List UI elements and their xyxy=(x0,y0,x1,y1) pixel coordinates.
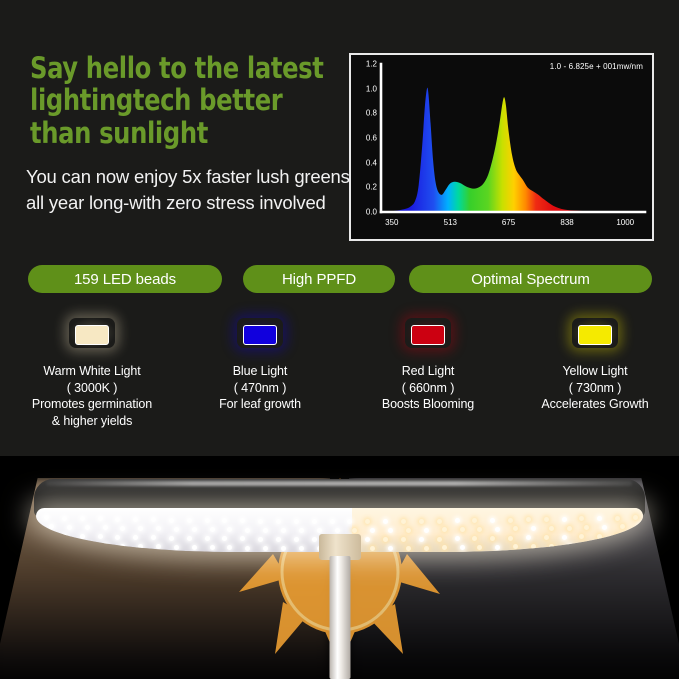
feature-pill-label: 159 LED beads xyxy=(74,271,176,288)
light-type-spec: ( 3000K ) xyxy=(8,380,176,397)
chart-y-tick: 0.2 xyxy=(355,183,377,192)
light-type-benefit-1: Accelerates Growth xyxy=(511,396,679,413)
led-bead xyxy=(401,537,406,542)
light-type-columns: Warm White Light ( 3000K ) Promotes germ… xyxy=(0,318,679,438)
chart-plot-area: 1.0 - 6.825e + 001mw/nm 0.00.20.40.60.81… xyxy=(351,55,652,239)
red-swatch-glow xyxy=(405,318,451,348)
led-bead xyxy=(227,527,232,532)
led-bead xyxy=(567,526,572,531)
lamp-pole xyxy=(329,556,350,679)
led-bead xyxy=(187,536,192,541)
led-bead xyxy=(67,543,72,548)
spectrum-curve xyxy=(351,55,652,239)
led-bead xyxy=(210,527,215,532)
led-bead xyxy=(330,519,335,524)
light-type-benefit-1: Boosts Blooming xyxy=(344,396,512,413)
light-type-red: Red Light ( 660nm ) Boosts Blooming xyxy=(344,318,512,413)
light-type-spec: ( 730nm ) xyxy=(511,380,679,397)
led-bead xyxy=(312,519,317,524)
led-bead xyxy=(80,516,85,521)
feature-pill-label: Optimal Spectrum xyxy=(471,271,589,288)
chart-y-tick: 0.0 xyxy=(355,208,377,217)
led-bead xyxy=(103,525,108,530)
led-bead xyxy=(174,527,179,532)
light-type-warm-white: Warm White Light ( 3000K ) Promotes germ… xyxy=(8,318,176,430)
led-bead xyxy=(205,536,210,541)
led-bead xyxy=(437,537,442,542)
led-bead xyxy=(210,545,215,550)
chart-y-tick: 0.6 xyxy=(355,134,377,143)
product-photo xyxy=(0,456,679,679)
led-bead xyxy=(67,525,72,530)
blue-swatch xyxy=(243,325,277,345)
led-bead xyxy=(424,546,429,551)
led-bead xyxy=(138,526,143,531)
led-bead xyxy=(383,537,388,542)
chart-x-tick: 675 xyxy=(502,218,515,227)
chart-x-tick: 350 xyxy=(385,218,398,227)
page-title: Say hello to the latest lightingtech bet… xyxy=(30,52,326,149)
led-bead xyxy=(245,546,250,551)
led-bead xyxy=(508,536,513,541)
led-bead xyxy=(133,535,138,540)
feature-pill-optimal-spectrum[interactable]: Optimal Spectrum xyxy=(409,265,652,293)
led-bead xyxy=(222,536,227,541)
led-bead xyxy=(562,517,567,522)
led-bead xyxy=(455,518,460,523)
light-type-name: Blue Light xyxy=(176,363,344,380)
led-bead xyxy=(263,528,268,533)
chart-annotation: 1.0 - 6.825e + 001mw/nm xyxy=(550,62,643,71)
led-bead xyxy=(103,543,108,548)
yellow-swatch xyxy=(578,325,612,345)
led-bead xyxy=(508,518,513,523)
led-bead xyxy=(245,528,250,533)
led-bead xyxy=(187,518,192,523)
light-type-yellow: Yellow Light ( 730nm ) Accelerates Growt… xyxy=(511,318,679,413)
light-type-text: Yellow Light ( 730nm ) Accelerates Growt… xyxy=(511,363,679,413)
light-type-blue: Blue Light ( 470nm ) For leaf growth xyxy=(176,318,344,413)
page-subtitle: You can now enjoy 5x faster lush greens … xyxy=(26,164,356,217)
led-bead xyxy=(615,534,620,539)
led-bead xyxy=(192,545,197,550)
led-bead xyxy=(544,535,549,540)
feature-pill-led-beads[interactable]: 159 LED beads xyxy=(28,265,222,293)
led-bead xyxy=(62,516,67,521)
led-bead xyxy=(169,536,174,541)
led-bead xyxy=(222,518,227,523)
led-bead xyxy=(562,535,567,540)
led-bead xyxy=(388,528,393,533)
led-bead xyxy=(169,518,174,523)
led-bead xyxy=(205,518,210,523)
light-type-benefit-1: Promotes germination xyxy=(8,396,176,413)
chart-x-tick: 513 xyxy=(444,218,457,227)
led-bead xyxy=(80,534,85,539)
warm-white-swatch xyxy=(75,325,109,345)
led-bead xyxy=(401,519,406,524)
led-bead xyxy=(299,528,304,533)
light-type-text: Red Light ( 660nm ) Boosts Blooming xyxy=(344,363,512,413)
light-type-name: Yellow Light xyxy=(511,363,679,380)
led-bead xyxy=(227,545,232,550)
led-bead xyxy=(115,535,120,540)
led-bead xyxy=(156,544,161,549)
led-bead xyxy=(383,519,388,524)
light-type-text: Warm White Light ( 3000K ) Promotes germ… xyxy=(8,363,176,430)
led-bead xyxy=(549,526,554,531)
feature-pill-group: 159 LED beads High PPFD Optimal Spectrum xyxy=(28,265,652,293)
led-bead xyxy=(567,544,572,549)
led-bead xyxy=(98,516,103,521)
led-bead xyxy=(299,546,304,551)
led-bead xyxy=(294,519,299,524)
chart-x-tick: 1000 xyxy=(616,218,634,227)
top-info-panel: Say hello to the latest lightingtech bet… xyxy=(0,0,679,456)
chart-y-tick: 1.2 xyxy=(355,60,377,69)
yellow-swatch-glow xyxy=(572,318,618,348)
light-type-text: Blue Light ( 470nm ) For leaf growth xyxy=(176,363,344,413)
led-bead xyxy=(419,537,424,542)
led-bead xyxy=(263,546,268,551)
led-bead xyxy=(276,537,281,542)
led-bead xyxy=(281,528,286,533)
infographic-page: Say hello to the latest lightingtech bet… xyxy=(0,0,679,679)
led-bead xyxy=(312,537,317,542)
led-bead xyxy=(115,517,120,522)
light-type-benefit-1: For leaf growth xyxy=(176,396,344,413)
light-type-spec: ( 470nm ) xyxy=(176,380,344,397)
led-bead xyxy=(437,519,442,524)
led-bead xyxy=(424,528,429,533)
light-type-name: Red Light xyxy=(344,363,512,380)
chart-y-tick: 0.8 xyxy=(355,109,377,118)
led-bead xyxy=(549,544,554,549)
chart-y-tick: 0.4 xyxy=(355,158,377,167)
led-bead xyxy=(151,535,156,540)
led-bead xyxy=(615,516,620,521)
led-bead xyxy=(460,527,465,532)
led-bead xyxy=(455,536,460,541)
led-bead xyxy=(240,536,245,541)
led-bead xyxy=(495,527,500,532)
led-bead xyxy=(495,545,500,550)
led-bead xyxy=(133,517,138,522)
lamp-housing-highlight xyxy=(46,481,632,486)
blue-swatch-glow xyxy=(237,318,283,348)
led-bead xyxy=(276,519,281,524)
led-bead xyxy=(460,545,465,550)
chart-x-tick: 838 xyxy=(560,218,573,227)
led-bead xyxy=(120,526,125,531)
led-bead xyxy=(388,546,393,551)
led-bead xyxy=(406,528,411,533)
led-bead xyxy=(258,537,263,542)
spectrum-chart: 1.0 - 6.825e + 001mw/nm 0.00.20.40.60.81… xyxy=(349,53,654,241)
light-type-spec: ( 660nm ) xyxy=(344,380,512,397)
led-bead xyxy=(174,545,179,550)
warm-white-swatch-glow xyxy=(69,318,115,348)
feature-pill-label: High PPFD xyxy=(282,271,356,288)
led-bead xyxy=(85,525,90,530)
led-bead xyxy=(44,515,49,520)
led-bead xyxy=(151,517,156,522)
led-bead xyxy=(294,537,299,542)
led-bead xyxy=(281,546,286,551)
led-bead xyxy=(544,517,549,522)
led-bead xyxy=(406,546,411,551)
led-bead xyxy=(192,527,197,532)
light-type-benefit-2: & higher yields xyxy=(8,413,176,430)
led-bead xyxy=(62,534,67,539)
red-swatch xyxy=(411,325,445,345)
led-bead xyxy=(258,519,263,524)
light-type-name: Warm White Light xyxy=(8,363,176,380)
feature-pill-high-ppfd[interactable]: High PPFD xyxy=(243,265,395,293)
led-bead xyxy=(335,528,340,533)
chart-y-tick: 1.0 xyxy=(355,84,377,93)
led-bead xyxy=(156,526,161,531)
led-bead xyxy=(49,524,54,529)
led-bead xyxy=(98,534,103,539)
led-bead xyxy=(419,519,424,524)
led-bead xyxy=(317,528,322,533)
led-bead xyxy=(85,543,90,548)
led-bead xyxy=(240,518,245,523)
